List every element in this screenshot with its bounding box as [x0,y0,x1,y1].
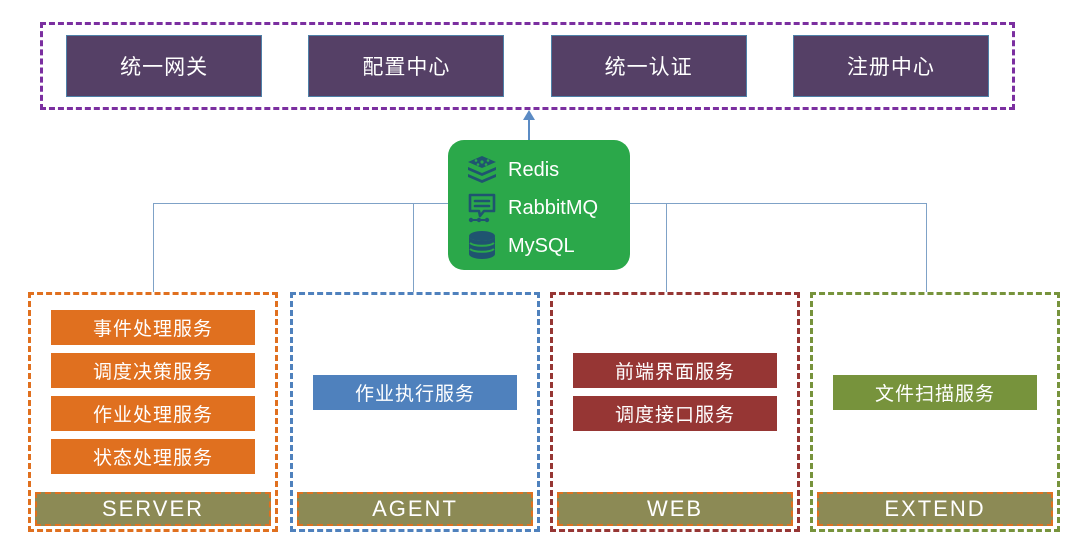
service-box[interactable]: 调度决策服务 [51,353,255,388]
service-box[interactable]: 事件处理服务 [51,310,255,345]
module-column-extend: 文件扫描服务 EXTEND [810,292,1060,532]
platform-box-label: 统一网关 [120,51,208,81]
column-footer-server: SERVER [35,492,271,526]
middleware-label: MySQL [508,235,575,258]
service-label: 调度决策服务 [93,357,213,384]
platform-box-label: 统一认证 [605,51,693,81]
middleware-card: Redis RabbitMQ [448,140,630,270]
service-box[interactable]: 调度接口服务 [573,396,777,431]
middleware-label: Redis [508,159,559,182]
column-footer-agent: AGENT [297,492,533,526]
column-body: 文件扫描服务 [813,295,1057,489]
service-label: 状态处理服务 [93,443,213,470]
module-column-agent: 作业执行服务 AGENT [290,292,540,532]
drop-line-extend [926,203,927,292]
service-box[interactable]: 状态处理服务 [51,439,255,474]
column-footer-web: WEB [557,492,793,526]
service-label: 调度接口服务 [615,400,735,427]
architecture-diagram: 统一网关 配置中心 统一认证 注册中心 [0,0,1080,545]
column-footer-extend: EXTEND [817,492,1053,526]
column-footer-label: EXTEND [884,496,985,522]
bus-line-right [626,203,927,204]
platform-box-gateway[interactable]: 统一网关 [66,35,262,97]
platform-box-label: 注册中心 [847,51,935,81]
service-box[interactable]: 文件扫描服务 [833,375,1037,410]
platform-group: 统一网关 配置中心 统一认证 注册中心 [40,22,1015,110]
drop-line-agent [413,203,414,292]
service-label: 文件扫描服务 [875,379,995,406]
layers-stack-icon [462,153,502,187]
message-queue-icon [462,191,502,225]
drop-line-web [666,203,667,292]
service-label: 前端界面服务 [615,357,735,384]
column-body: 事件处理服务 调度决策服务 作业处理服务 状态处理服务 [31,295,275,489]
platform-box-auth[interactable]: 统一认证 [551,35,747,97]
column-body: 前端界面服务 调度接口服务 [553,295,797,489]
service-box[interactable]: 作业处理服务 [51,396,255,431]
column-footer-label: WEB [647,496,703,522]
platform-box-config-center[interactable]: 配置中心 [308,35,504,97]
module-column-web: 前端界面服务 调度接口服务 WEB [550,292,800,532]
module-column-server: 事件处理服务 调度决策服务 作业处理服务 状态处理服务 SERVER [28,292,278,532]
platform-box-registry[interactable]: 注册中心 [793,35,989,97]
middleware-label: RabbitMQ [508,197,598,220]
middleware-item-redis: Redis [462,151,630,189]
service-box[interactable]: 作业执行服务 [313,375,517,410]
service-box[interactable]: 前端界面服务 [573,353,777,388]
column-footer-label: SERVER [102,496,204,522]
drop-line-server [153,203,154,292]
column-body: 作业执行服务 [293,295,537,489]
middleware-item-rabbitmq: RabbitMQ [462,189,630,227]
platform-box-label: 配置中心 [362,51,450,81]
service-label: 作业处理服务 [93,400,213,427]
bus-line-left [153,203,453,204]
middleware-item-mysql: MySQL [462,227,630,265]
column-footer-label: AGENT [372,496,458,522]
service-label: 事件处理服务 [93,314,213,341]
service-label: 作业执行服务 [355,379,475,406]
database-cylinder-icon [462,229,502,263]
up-arrow-icon [523,110,535,120]
